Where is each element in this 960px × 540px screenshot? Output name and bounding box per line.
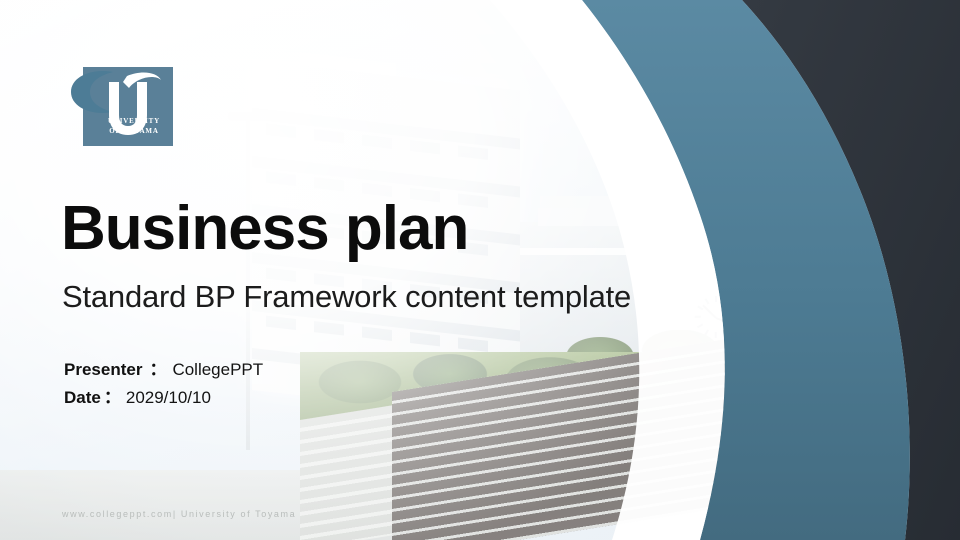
presentation-slide: UNIVERSITY OF TOYAMA Business plan Stand…	[0, 0, 960, 540]
date-value: 2029/10/10	[126, 388, 211, 408]
date-row: Date ： 2029/10/10	[64, 383, 263, 411]
presenter-value: CollegePPT	[172, 360, 263, 380]
presenter-colon: ：	[142, 355, 172, 380]
university-logo: UNIVERSITY OF TOYAMA	[65, 66, 173, 146]
footer-credit: www.collegeppt.com| University of Toyama	[62, 509, 296, 519]
date-colon: ：	[101, 383, 126, 408]
meta-block: Presenter ： CollegePPT Date ： 2029/10/10	[64, 355, 263, 411]
date-label: Date	[64, 388, 101, 408]
logo-caption-line2: OF TOYAMA	[99, 126, 169, 136]
logo-caption-line1: UNIVERSITY	[99, 116, 169, 126]
presenter-row: Presenter ： CollegePPT	[64, 355, 263, 383]
logo-caption: UNIVERSITY OF TOYAMA	[99, 116, 169, 136]
slide-title: Business plan	[61, 198, 468, 260]
slide-subtitle: Standard BP Framework content template	[62, 281, 631, 312]
presenter-label: Presenter	[64, 360, 142, 380]
